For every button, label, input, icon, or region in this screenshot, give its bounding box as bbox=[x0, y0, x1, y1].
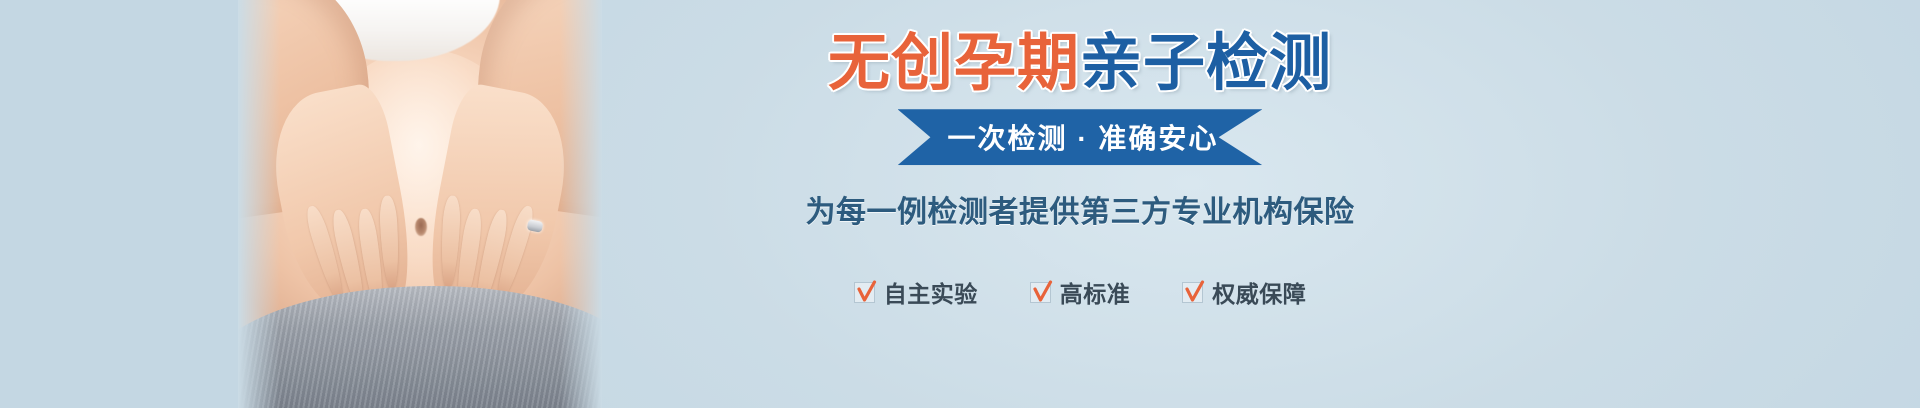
tagline-ribbon: 一次检测 · 准确安心 bbox=[898, 109, 1263, 165]
subtitle: 为每一例检测者提供第三方专业机构保险 bbox=[770, 187, 1390, 231]
feature-list: 自主实验 高标准 权威保障 bbox=[770, 275, 1390, 309]
headline: 无创孕期亲子检测 bbox=[770, 32, 1390, 95]
banner-content: 无创孕期亲子检测 一次检测 · 准确安心 为每一例检测者提供第三方专业机构保险 … bbox=[770, 26, 1390, 382]
check-icon bbox=[1182, 282, 1203, 303]
feature-label-3: 权威保障 bbox=[1212, 275, 1306, 309]
feature-item-1: 自主实验 bbox=[854, 275, 978, 309]
check-icon bbox=[854, 282, 875, 303]
feature-item-2: 高标准 bbox=[1030, 275, 1131, 309]
ribbon-row: 一次检测 · 准确安心 bbox=[770, 109, 1390, 165]
feature-label-1: 自主实验 bbox=[884, 275, 978, 309]
headline-blue: 亲子检测 bbox=[1080, 29, 1332, 98]
photo-left-fade bbox=[238, 0, 280, 408]
ribbon-text: 一次检测 · 准确安心 bbox=[948, 117, 1219, 157]
hero-photo bbox=[238, 0, 602, 408]
headline-orange: 无创孕期 bbox=[828, 29, 1080, 98]
feature-item-3: 权威保障 bbox=[1182, 275, 1306, 309]
promo-banner: 无创孕期亲子检测 一次检测 · 准确安心 为每一例检测者提供第三方专业机构保险 … bbox=[0, 0, 1920, 408]
navel bbox=[415, 218, 427, 236]
pregnant-belly-photo bbox=[238, 0, 602, 408]
check-icon bbox=[1030, 282, 1051, 303]
photo-right-fade bbox=[560, 0, 602, 408]
feature-label-2: 高标准 bbox=[1060, 275, 1131, 309]
